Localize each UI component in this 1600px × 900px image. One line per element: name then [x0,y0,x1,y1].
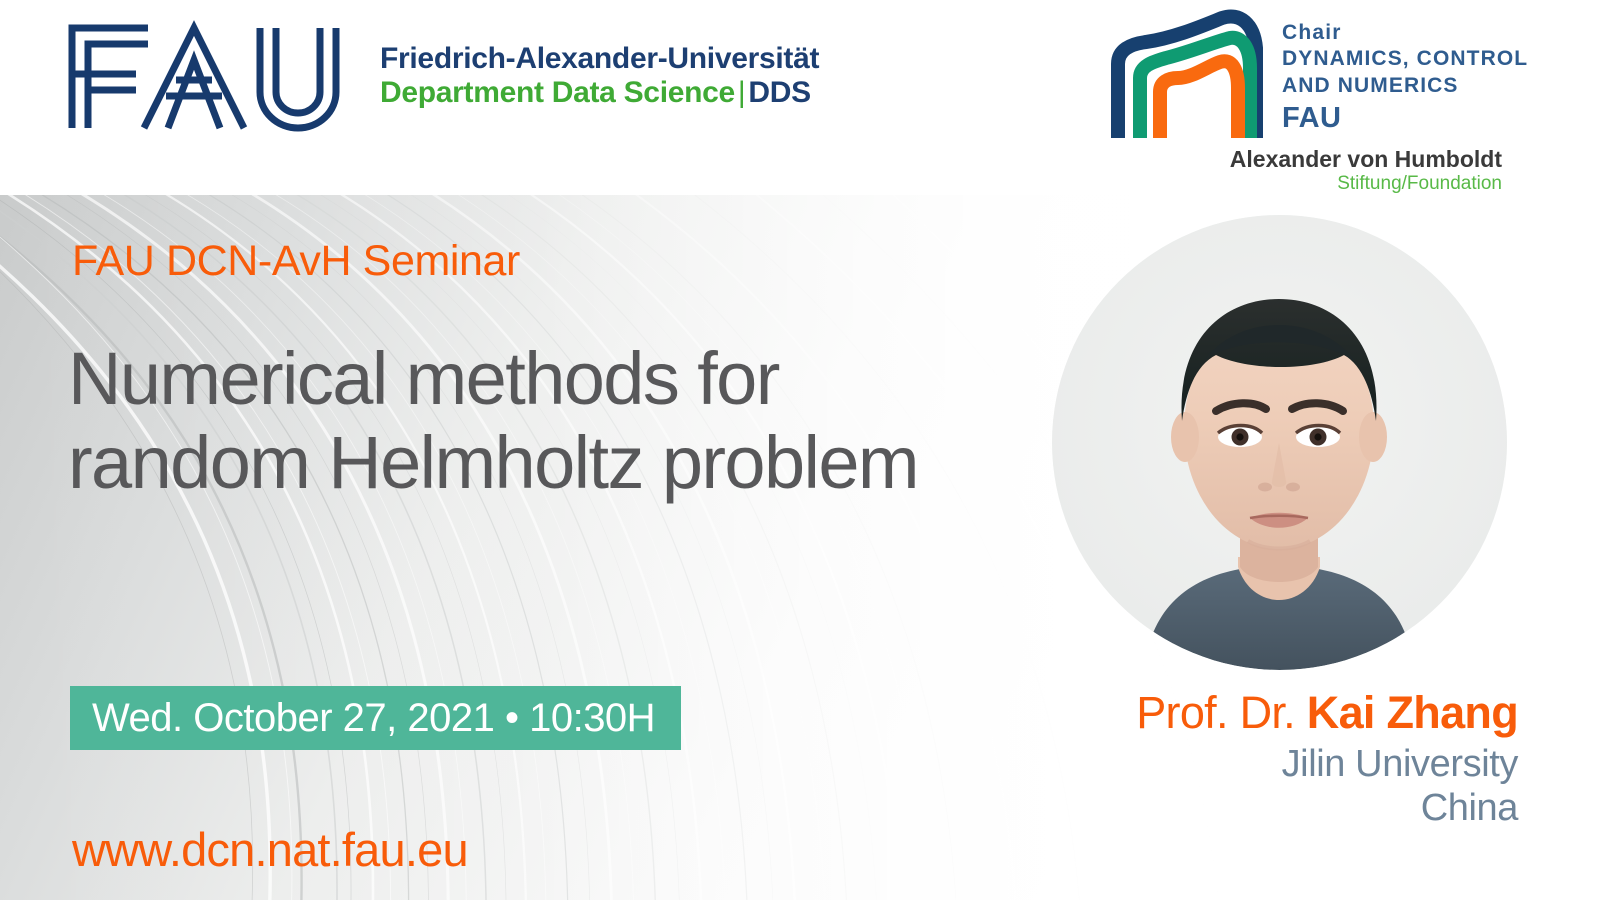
dcn-line-2: AND NUMERICS [1282,73,1528,99]
fau-wordmark: Friedrich-Alexander-Universität Departme… [380,42,819,109]
dcn-chair-label: Chair [1282,20,1528,46]
fau-university-name: Friedrich-Alexander-Universität [380,42,819,76]
speaker-name: Prof. Dr. Kai Zhang [1010,688,1518,738]
poster-main-content: FAU DCN-AvH Seminar Numerical methods fo… [0,195,1010,900]
fau-university-logo: Friedrich-Alexander-Universität Departme… [62,20,819,132]
seminar-kicker: FAU DCN-AvH Seminar [72,237,520,286]
humboldt-foundation-logo: Alexander von Humboldt Stiftung/Foundati… [1104,146,1504,196]
fau-monogram-icon [62,20,354,132]
speaker-country: China [1010,786,1518,830]
fau-department-name: Department Data Science|DDS [380,76,819,110]
humboldt-name: Alexander von Humboldt [1104,146,1502,173]
dcn-fau-label: FAU [1282,100,1528,136]
speaker-panel: Prof. Dr. Kai Zhang Jilin University Chi… [1010,195,1600,900]
speaker-photo-graphic [1052,215,1507,670]
seminar-poster: Friedrich-Alexander-Universität Departme… [0,0,1600,900]
header-band: Friedrich-Alexander-Universität Departme… [0,0,1600,195]
speaker-affiliation: Jilin University [1010,742,1518,786]
speaker-fullname: Kai Zhang [1307,687,1518,738]
dcn-avh-logo: Chair DYNAMICS, CONTROL AND NUMERICS FAU… [1104,8,1504,196]
dcn-wave-icon [1104,8,1272,144]
speaker-portrait [1052,215,1507,670]
dcn-text-block: Chair DYNAMICS, CONTROL AND NUMERICS FAU [1282,8,1528,136]
talk-title: Numerical methods for random Helmholtz p… [68,337,998,506]
dcn-line-1: DYNAMICS, CONTROL [1282,46,1528,72]
fau-separator: | [735,76,749,109]
fau-dds-label: DDS [748,76,810,109]
dcn-logo-row: Chair DYNAMICS, CONTROL AND NUMERICS FAU [1104,8,1504,144]
fau-department-label: Department Data Science [380,76,735,109]
speaker-title-prefix: Prof. Dr. [1136,687,1307,738]
date-time-banner: Wed. October 27, 2021 • 10:30H [70,686,681,750]
speaker-info: Prof. Dr. Kai Zhang Jilin University Chi… [1010,688,1518,831]
website-url[interactable]: www.dcn.nat.fau.eu [72,822,468,877]
date-time-text: Wed. October 27, 2021 • 10:30H [92,696,655,741]
humboldt-subtitle: Stiftung/Foundation [1104,173,1502,195]
